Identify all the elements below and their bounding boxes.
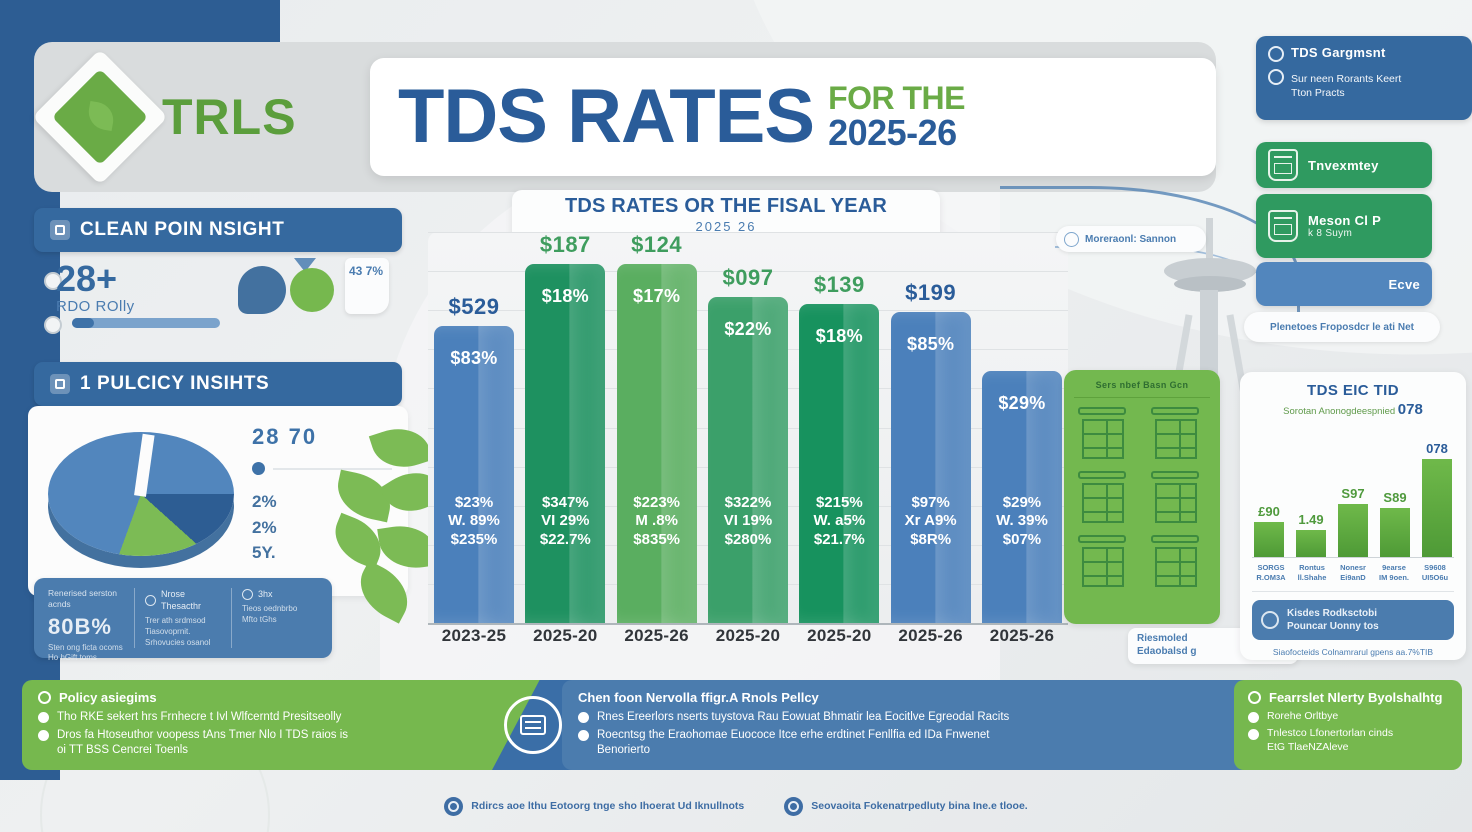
progress-bar[interactable] [72,318,220,328]
bar-top-label: $529 [449,294,500,320]
mini-bar [1380,508,1410,557]
left-stats-card: Renerised serston acnds 80B% Sten ong fi… [34,578,332,658]
bar-column: $097$22%$322% VI 19% $280% [708,232,788,623]
bar: $83%$23% W. 89% $235% [434,326,514,623]
stats-column-3: 3hx Tieos oednbrbo Mfto tGhs [231,588,318,648]
bar-inner-stack-labels: $215% W. a5% $21.7% [799,494,879,549]
stats-footnote-b: Ho hGift toms [48,653,124,664]
mini-bar-x-label: Rontus ll.Shahe [1295,563,1329,583]
leaf-icon [369,420,433,477]
monument-station-tag: Moreraonl: Sannon [1056,226,1206,252]
page-title-forthe: FOR THE [828,82,965,115]
mean-card-label: Meson Cl P k 8 Suym [1308,213,1381,239]
bar-inner-stack-labels: $29% W. 39% $07% [982,494,1062,549]
policy-footer-center: Chen foon Nervolla ffigr.A Rnols Pellcy … [562,680,1262,770]
credit-bar: Rdircs aoe lthu Eotoorg tnge sho Ihoerat… [0,786,1472,826]
credit-item: Seovaoita Fokenatrpedluty bina Ine.e tlo… [784,797,1027,816]
bar-column: $529$83%$23% W. 89% $235% [434,232,514,623]
brand-logo-text: TRLS [162,88,297,146]
bullet-dot-icon [38,712,49,723]
clean-insight-panel-header[interactable]: CLEAN POIN NSIGHT [34,208,402,252]
footer-center-item-1: Roecntsg the Eraohomae Euococe Itce erhe… [597,728,990,758]
bullet-dot-icon [38,730,49,741]
pie-chart [48,424,238,574]
bar: $85%$97% Xr A9% $8R% [891,312,971,623]
info-circle-icon [444,797,463,816]
mini-bar-column: S89 [1380,428,1410,557]
page-title-card: TDS RATES FOR THE 2025-26 [370,58,1216,176]
mini-chart-plot: £901.49S97S89078 [1252,428,1454,558]
footer-center-item-0: Rnes Ereerlors nserts tuystova Rau Eowua… [597,710,1009,725]
mini-bar-x-label: SORGS R.OM3A [1254,563,1288,583]
stats-column-2-label: Trer ath srdmsod [145,616,221,627]
bank-icon [50,374,70,394]
bar-x-label: 2025-26 [982,626,1062,646]
bar-top-label: $139 [814,272,865,298]
mini-chart-title: TDS EIC TID [1252,382,1454,399]
bar-inner-top-label: $29% [982,393,1062,414]
stats-footnote-a: Sten ong ficta ocoms [48,643,124,654]
clean-insight-stat-label: RDO ROlly [56,298,135,315]
building-icon [1145,405,1212,461]
bullet-dot-icon [578,712,589,723]
mean-card[interactable]: Meson Cl P k 8 Suym [1256,194,1432,258]
mini-chart-x-labels: SORGS R.OM3ARontus ll.ShaheNonesr Ei9anD… [1252,563,1454,583]
bar-inner-top-label: $18% [525,286,605,307]
page-title: TDS RATES [398,79,814,155]
bar: $29%$29% W. 39% $07% [982,371,1062,623]
mini-chart-headline-value: 078 [1398,401,1423,418]
mini-bar-value-label: S97 [1341,486,1364,501]
footer-left-item-0: Tho RKE sekert hrs Frnhecre t Ivl Wlfcer… [57,710,341,725]
legend-dot-icon [252,462,265,475]
bar-chart-bars: $529$83%$23% W. 89% $235%$187$18%$347% V… [428,232,1068,623]
bar-inner-top-label: $22% [708,319,788,340]
bar-top-label: $187 [540,232,591,258]
bar-inner-top-label: $85% [891,334,971,355]
mini-bar [1254,522,1284,557]
bar-inner-top-label: $83% [434,348,514,369]
policy-footer-right: Fearrslet Nlerty Byolshalhtg Rorehe Orlt… [1234,680,1462,770]
bar-x-label: 2025-20 [799,626,879,646]
stats-value: 80B% [48,612,124,642]
footer-band: Policy asiegims Tho RKE sekert hrs Frnhe… [22,680,1450,778]
bar-inner-stack-labels: $322% VI 19% $280% [708,494,788,549]
mini-bar-value-label: £90 [1258,504,1280,519]
bar: $17%$223% M .8% $835% [617,264,697,623]
chart-x-axis [428,623,1068,625]
mean-card-sub: k 8 Suym [1308,228,1381,239]
bullet-marker-b [44,316,62,334]
bar-inner-stack-labels: $347% VI 29% $22.7% [525,494,605,549]
bullet-dot-icon [1248,729,1259,740]
blue-blob-icon [238,266,286,314]
credit-item: Rdircs aoe lthu Eotoorg tnge sho Ihoerat… [444,797,744,816]
mini-bar-column: £90 [1254,428,1284,557]
building-icon [1072,469,1139,525]
mini-chart-footnote: Siaofocteids Colnamrarul gpens aa.7%TIB [1252,647,1454,657]
bank-building-icon [504,696,562,754]
building-icon [1072,405,1139,461]
calendar-icon [1268,210,1298,242]
bar: $18%$347% VI 29% $22.7% [525,264,605,623]
inventory-card-label: Tnvexmtey [1308,158,1379,173]
bar-column: $139$18%$215% W. a5% $21.7% [799,232,879,623]
stats-label: Renerised serston acnds [48,588,124,611]
chart-title: TDS RATES OR THE FISAL YEAR [512,195,940,218]
stats-column-1: Renerised serston acnds 80B% Sten ong fi… [48,588,124,648]
percentage-tag: 43 7% [345,258,389,314]
stats-mini-icon [145,595,156,606]
page-title-year: 2025-26 [828,115,965,152]
tds-summary-title: TDS Gargmsnt [1291,45,1386,60]
buildings-card-title: Sers nbef Basn Gcn [1072,380,1212,390]
progress-bar-fill [72,318,94,328]
gear-icon [50,220,70,240]
mini-bar-column: S97 [1338,428,1368,557]
building-icon [1072,533,1139,589]
footer-right-item-0: Rorehe Orltbye [1267,710,1338,724]
ecve-card-label: Ecve [1388,277,1420,292]
mini-bar [1296,530,1326,557]
bar-x-label: 2025-20 [708,626,788,646]
tds-summary-card[interactable]: TDS Gargmsnt Sur neen Rorants Keert Tton… [1256,36,1472,120]
bar-x-label: 2025-20 [525,626,605,646]
monument-station-label: Moreraonl: Sannon [1085,234,1176,245]
footer-right-item-1: Tnlestco Lfonertorlan cinds EtG TlaeNZAl… [1267,727,1393,755]
info-icon [1064,232,1079,247]
bar-top-label: $097 [723,265,774,291]
bar-x-label: 2025-26 [891,626,971,646]
circle-outline-icon [38,691,51,704]
brand-logo: TRLS [52,58,352,176]
bar: $22%$322% VI 19% $280% [708,297,788,623]
footer-center-title: Chen foon Nervolla ffigr.A Rnols Pellcy [578,690,819,705]
mini-chart-card: TDS EIC TID Sorotan Anonogdeespnied 078 … [1240,372,1466,660]
mini-bar-value-label: 078 [1426,441,1448,456]
clean-insight-stat-value: 28+ [56,258,117,300]
bullet-dot-icon [1248,712,1259,723]
stats-column-3-foot-b: Mfto tGhs [242,615,318,626]
leaf-icon [349,560,418,623]
mini-bar [1338,504,1368,557]
document-icon [1268,149,1298,181]
info-icon [1268,46,1284,62]
bar-column: $199$85%$97% Xr A9% $8R% [891,232,971,623]
bar-x-label: 2025-26 [617,626,697,646]
bar-column: $124$17%$223% M .8% $835% [617,232,697,623]
stats-mini-icon [242,589,253,600]
bar-top-label: $199 [905,280,956,306]
bullet-dot-icon [578,730,589,741]
projection-tag: Plenetoes Froposdcr le ati Net [1244,312,1440,342]
mini-bar-x-label: S9608 UI5O6u [1418,563,1452,583]
green-blob-icon [290,268,334,312]
footer-left-item-1: Dros fa Htoseuthor voopess tAns Tmer Nlo… [57,728,348,758]
buildings-card: Sers nbef Basn Gcn [1064,370,1220,624]
info-icon [1268,69,1284,85]
policy-insights-panel-header[interactable]: 1 PULCICY INSIHTS [34,362,402,406]
bar-top-label: $124 [631,232,682,258]
bar: $18%$215% W. a5% $21.7% [799,304,879,623]
mini-bar-column: 1.49 [1296,428,1326,557]
mini-chart-note-text: Kisdes Rodksctobi Pouncar Uonny tos [1287,607,1379,633]
inventory-card[interactable]: Tnvexmtey [1256,142,1432,188]
bar-x-label: 2023-25 [434,626,514,646]
clean-insight-panel-title: CLEAN POIN NSIGHT [80,219,284,241]
mini-bar-x-label: Nonesr Ei9anD [1336,563,1370,583]
mini-chart-subtitle: Sorotan Anonogdeespnied [1283,406,1395,417]
green-diamond-leaf-logo-icon [52,69,148,165]
tds-summary-body: Sur neen Rorants Keert Tton Practs [1291,72,1401,100]
mini-bar-value-label: 1.49 [1298,512,1323,527]
buildings-icon-grid [1072,405,1212,589]
mini-bar-value-label: S89 [1383,490,1406,505]
stats-column-3-value: 3hx [258,588,273,600]
bar-column: $187$18%$347% VI 29% $22.7% [525,232,605,623]
bar-inner-stack-labels: $223% M .8% $835% [617,494,697,549]
bar-inner-top-label: $18% [799,326,879,347]
bar-inner-stack-labels: $23% W. 89% $235% [434,494,514,549]
ecve-card[interactable]: Ecve [1256,262,1432,306]
stats-column-2: Nrose Thesacthr Trer ath srdmsod Tiasovo… [134,588,221,648]
circle-outline-icon [1248,691,1261,704]
bar-inner-stack-labels: $97% Xr A9% $8R% [891,494,971,549]
building-icon [1145,533,1212,589]
stats-column-3-foot-a: Tieos oednbrbo [242,604,318,615]
credit-text: Seovaoita Fokenatrpedluty bina Ine.e tlo… [811,800,1027,812]
mini-bar-x-label: 9earse IM 9oen. [1377,563,1411,583]
shield-icon [1261,611,1279,629]
mini-chart-note: Kisdes Rodksctobi Pouncar Uonny tos [1252,600,1454,640]
stats-column-2-foot: Tiasovoprnit. [145,627,221,638]
stats-column-2-title: Nrose Thesacthr [161,588,221,612]
bar-chart-x-labels: 2023-252025-202025-262025-202025-202025-… [428,626,1068,646]
bar-inner-top-label: $17% [617,286,697,307]
footer-left-title: Policy asiegims [59,690,157,705]
credit-text: Rdircs aoe lthu Eotoorg tnge sho Ihoerat… [471,800,744,812]
policy-insights-panel-title: 1 PULCICY INSIHTS [80,373,269,395]
info-circle-icon [784,797,803,816]
mini-bar-column: 078 [1422,428,1452,557]
footer-right-title: Fearrslet Nlerty Byolshalhtg [1269,690,1442,705]
mini-bar [1422,459,1452,557]
leaf-decoration-cluster [330,425,440,625]
stats-column-2-foot-b: Srhovucies osanol [145,638,221,649]
building-icon [1145,469,1212,525]
